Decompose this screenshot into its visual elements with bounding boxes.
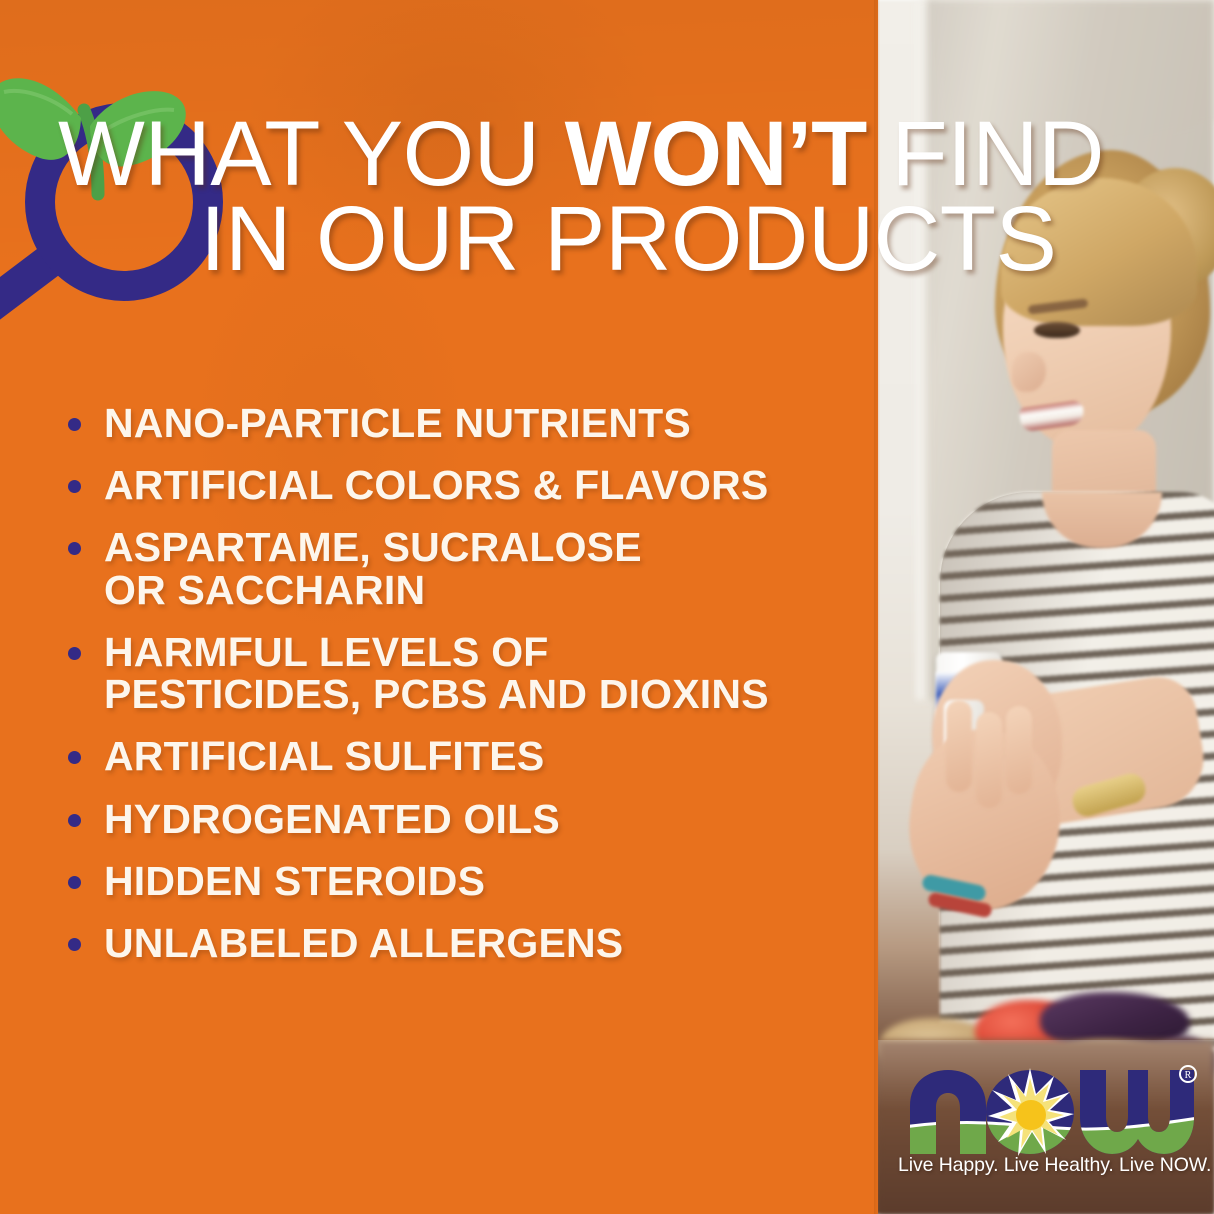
list-item: HIDDEN STEROIDS bbox=[64, 860, 864, 902]
svg-text:R: R bbox=[1185, 1070, 1192, 1081]
list-item: ARTIFICIAL SULFITES bbox=[64, 735, 864, 777]
list-item: HARMFUL LEVELS OF PESTICIDES, PCBS AND D… bbox=[64, 631, 864, 715]
brand-tagline: Live Happy. Live Healthy. Live NOW. bbox=[898, 1154, 1198, 1177]
excluded-ingredients-list: NANO-PARTICLE NUTRIENTS ARTIFICIAL COLOR… bbox=[64, 402, 864, 984]
list-item: ARTIFICIAL COLORS & FLAVORS bbox=[64, 464, 864, 506]
list-item: HYDROGENATED OILS bbox=[64, 798, 864, 840]
bullet-dot-icon bbox=[68, 876, 81, 889]
list-item: UNLABELED ALLERGENS bbox=[64, 922, 864, 964]
list-item-line-1: HIDDEN STEROIDS bbox=[104, 858, 485, 904]
bullet-dot-icon bbox=[68, 418, 81, 431]
list-item-line-1: ARTIFICIAL COLORS & FLAVORS bbox=[104, 462, 768, 508]
woman-eye bbox=[1034, 322, 1080, 338]
bullet-dot-icon bbox=[68, 480, 81, 493]
list-item-line-1: ASPARTAME, SUCRALOSE bbox=[104, 524, 642, 570]
headline-line-2: IN OUR PRODUCTS bbox=[200, 197, 1198, 282]
list-item-line-2: PESTICIDES, PCBS AND DIOXINS bbox=[104, 673, 864, 715]
list-item-line-1: UNLABELED ALLERGENS bbox=[104, 920, 623, 966]
bullet-dot-icon bbox=[68, 751, 81, 764]
list-item-line-1: HYDROGENATED OILS bbox=[104, 796, 560, 842]
bullet-dot-icon bbox=[68, 938, 81, 951]
poster-canvas: WHAT YOU WON’T FIND IN OUR PRODUCTS NANO… bbox=[0, 0, 1214, 1214]
finger-1 bbox=[946, 700, 972, 792]
list-item-line-1: NANO-PARTICLE NUTRIENTS bbox=[104, 400, 691, 446]
list-item-line-2: OR SACCHARIN bbox=[104, 569, 864, 611]
finger-2 bbox=[976, 712, 1002, 808]
bullet-dot-icon bbox=[68, 647, 81, 660]
bullet-dot-icon bbox=[68, 542, 81, 555]
list-item-line-1: ARTIFICIAL SULFITES bbox=[104, 733, 544, 779]
list-item: NANO-PARTICLE NUTRIENTS bbox=[64, 402, 864, 444]
headline-line-1: WHAT YOU WON’T FIND bbox=[58, 112, 1198, 197]
list-item: ASPARTAME, SUCRALOSE OR SACCHARIN bbox=[64, 526, 864, 610]
now-foods-logo: R bbox=[898, 1062, 1198, 1162]
finger-3 bbox=[1006, 706, 1032, 794]
list-item-line-1: HARMFUL LEVELS OF bbox=[104, 629, 549, 675]
bullet-dot-icon bbox=[68, 814, 81, 827]
page-title: WHAT YOU WON’T FIND IN OUR PRODUCTS bbox=[58, 112, 1198, 281]
